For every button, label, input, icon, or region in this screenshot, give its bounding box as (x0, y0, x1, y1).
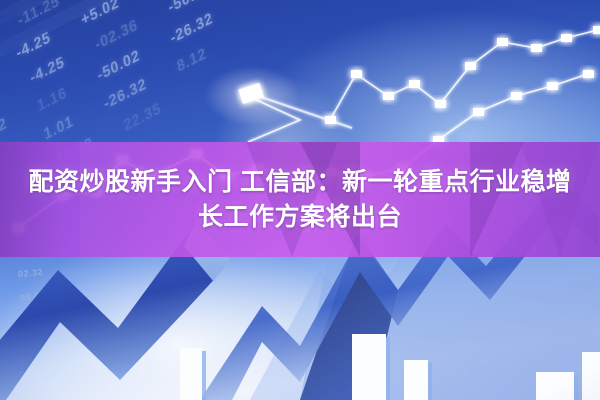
vignette (0, 0, 600, 400)
stock-news-banner: -50.02-02.3521.05-06.02-11.2545.02-02.36… (0, 0, 600, 400)
